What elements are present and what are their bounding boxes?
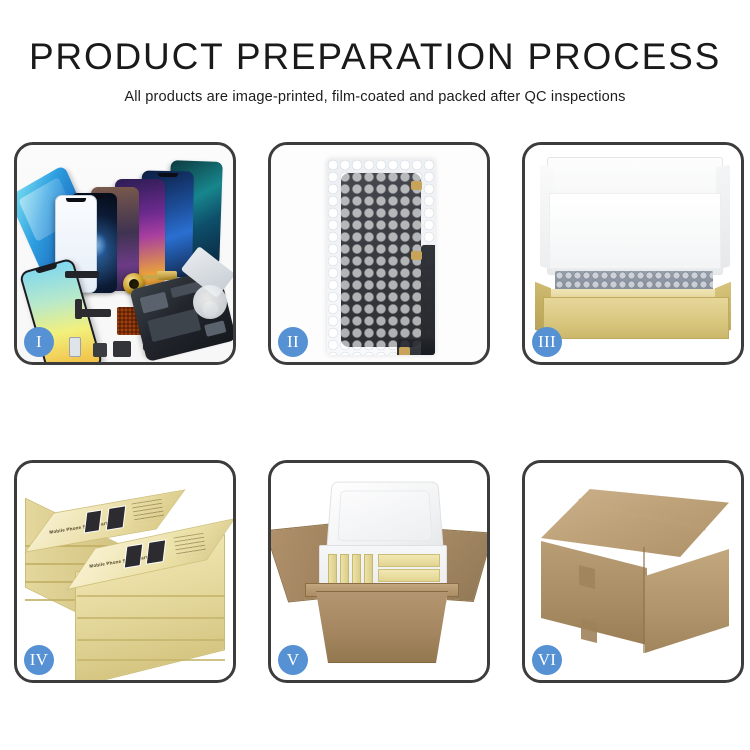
- step-badge-1: I: [24, 327, 54, 357]
- flex-cable-part-1: [79, 309, 111, 317]
- box-stack: Mobile Phone Spare Parts Mobile Phone Sp…: [23, 479, 231, 669]
- process-step-panel-4: Mobile Phone Spare Parts Mobile Phone Sp…: [14, 460, 236, 683]
- antenna-strip-part: [65, 271, 99, 278]
- box-label-screen-thumb: [124, 543, 144, 568]
- bubble-wrap-packing-image: [271, 145, 487, 362]
- battery-part: [69, 337, 81, 357]
- carton-tape-patch-2: [581, 619, 597, 643]
- step-badge-3: III: [532, 327, 562, 357]
- box-seam: [77, 617, 225, 619]
- process-step-panel-2: II: [268, 142, 490, 365]
- adhesive-tab-2: [411, 251, 422, 260]
- styrofoam-lid: [326, 482, 444, 552]
- page-subtitle: All products are image-printed, film-coa…: [0, 89, 750, 105]
- inner-box-flat: [378, 554, 440, 567]
- step-badge-6: VI: [532, 645, 562, 675]
- adhesive-tab-1: [411, 181, 422, 190]
- speaker-part-1: [113, 341, 131, 357]
- repair-tool-accessory: [193, 285, 227, 319]
- spare-parts-collage-image: [17, 145, 233, 362]
- box-seam: [77, 639, 225, 641]
- foam-lid-face: [549, 193, 721, 269]
- stacked-inner-boxes-image: Mobile Phone Spare Parts Mobile Phone Sp…: [17, 463, 233, 680]
- speaker-part-2: [93, 343, 107, 357]
- process-step-grid: I II III: [14, 142, 736, 683]
- notch-icon: [66, 198, 86, 202]
- notch-icon: [158, 173, 178, 177]
- kraft-box-front: [543, 297, 729, 339]
- step-badge-2: II: [278, 327, 308, 357]
- process-step-panel-6: VI: [522, 460, 744, 683]
- box-seam: [77, 659, 225, 661]
- housing-detail: [147, 309, 201, 342]
- adhesive-tab-3: [399, 347, 410, 355]
- carton-body: [307, 591, 457, 663]
- process-step-panel-1: I: [14, 142, 236, 365]
- box-label-screen-thumb: [106, 505, 127, 531]
- foam-lined-inner-box-image: [525, 145, 741, 362]
- carton-vertical-edge: [643, 547, 645, 653]
- styrofoam-outer-carton-image: [271, 463, 487, 680]
- step-badge-4: IV: [24, 645, 54, 675]
- housing-detail: [140, 292, 169, 314]
- page-header: PRODUCT PREPARATION PROCESS All products…: [0, 0, 750, 105]
- process-step-panel-3: III: [522, 142, 744, 365]
- process-step-panel-5: V: [268, 460, 490, 683]
- box-label-screen-thumb: [146, 539, 167, 565]
- sealed-shipping-carton-image: [525, 463, 741, 680]
- carton-tape-patch-1: [579, 565, 595, 589]
- bubble-wrap-bag: [327, 159, 435, 355]
- page-title: PRODUCT PREPARATION PROCESS: [0, 38, 750, 75]
- housing-detail: [204, 320, 226, 336]
- step-badge-5: V: [278, 645, 308, 675]
- carton-side-face: [645, 549, 729, 653]
- inner-box-flat: [378, 569, 440, 582]
- box-seam: [77, 595, 225, 597]
- box-label-screen-thumb: [84, 509, 102, 533]
